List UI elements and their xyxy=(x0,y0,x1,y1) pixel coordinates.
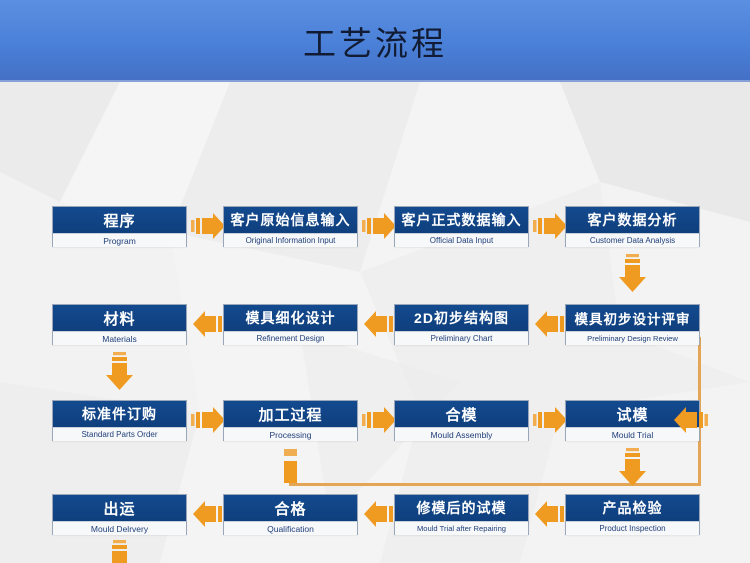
node-preliminary-design-review-en: Preliminary Design Review xyxy=(566,331,699,345)
node-standard-parts-order-cn: 标准件订购 xyxy=(53,401,186,427)
node-program[interactable]: 程序 Program xyxy=(52,206,187,247)
node-qualification[interactable]: 合格 Qualification xyxy=(223,494,358,535)
node-preliminary-chart[interactable]: 2D初步结构图 Preliminary Chart xyxy=(394,304,529,345)
node-standard-parts-order[interactable]: 标准件订购 Standard Parts Order xyxy=(52,400,187,441)
node-mould-assembly-en: Mould Assembly xyxy=(395,427,528,441)
arrow-down-r1-r2 xyxy=(619,254,646,294)
node-original-information-input-en: Original Information Input xyxy=(224,233,357,247)
node-processing-cn: 加工过程 xyxy=(224,401,357,427)
node-product-inspection[interactable]: 产品检验 Product Inspection xyxy=(565,494,700,535)
node-mould-assembly[interactable]: 合模 Mould Assembly xyxy=(394,400,529,441)
arrow-right-r3a xyxy=(191,407,227,433)
node-preliminary-design-review-cn: 模具初步设计评审 xyxy=(566,305,699,331)
node-materials-cn: 材料 xyxy=(53,305,186,331)
node-mould-assembly-cn: 合模 xyxy=(395,401,528,427)
node-preliminary-design-review[interactable]: 模具初步设计评审 Preliminary Design Review xyxy=(565,304,700,345)
feedback-loop-up-stub-upper xyxy=(284,449,297,456)
arrow-left-r2c xyxy=(533,311,569,337)
node-processing[interactable]: 加工过程 Processing xyxy=(223,400,358,441)
arrow-right-r3b xyxy=(362,407,398,433)
node-customer-data-analysis-en: Customer Data Analysis xyxy=(566,233,699,247)
node-refinement-design-cn: 模具细化设计 xyxy=(224,305,357,331)
node-mould-trial-after-repairing-en: Mould Trial after Repairing xyxy=(395,521,528,535)
node-official-data-input-cn: 客户正式数据输入 xyxy=(395,207,528,233)
node-materials-en: Materials xyxy=(53,331,186,345)
node-qualification-cn: 合格 xyxy=(224,495,357,521)
page-title: 工艺流程 xyxy=(0,0,750,82)
node-refinement-design-en: Refinement Design xyxy=(224,331,357,345)
node-mould-delivery[interactable]: 出运 Mould Delrvery xyxy=(52,494,187,535)
node-refinement-design[interactable]: 模具细化设计 Refinement Design xyxy=(223,304,358,345)
arrow-left-r2b xyxy=(362,311,398,337)
node-preliminary-chart-cn: 2D初步结构图 xyxy=(395,305,528,331)
page-header: 工艺流程 xyxy=(0,0,750,82)
node-customer-data-analysis[interactable]: 客户数据分析 Customer Data Analysis xyxy=(565,206,700,247)
arrow-down-r2-r3 xyxy=(106,352,133,392)
node-product-inspection-cn: 产品检验 xyxy=(566,495,699,521)
node-materials[interactable]: 材料 Materials xyxy=(52,304,187,345)
node-mould-trial-after-repairing-cn: 修模后的试模 xyxy=(395,495,528,521)
arrow-right-r1b xyxy=(362,213,398,239)
arrow-right-r1a xyxy=(191,213,227,239)
arrow-right-r3c xyxy=(533,407,569,433)
arrow-left-r4b xyxy=(362,501,398,527)
node-official-data-input-en: Official Data Input xyxy=(395,233,528,247)
node-customer-data-analysis-cn: 客户数据分析 xyxy=(566,207,699,233)
node-mould-trial-after-repairing[interactable]: 修模后的试模 Mould Trial after Repairing xyxy=(394,494,529,535)
arrow-left-r4a xyxy=(191,501,227,527)
arrow-down-r4-r5 xyxy=(106,540,133,563)
feedback-loop-up-stub-lower xyxy=(284,461,297,483)
node-program-en: Program xyxy=(53,233,186,247)
arrow-left-r4c xyxy=(533,501,569,527)
node-qualification-en: Qualification xyxy=(224,521,357,535)
flowchart-canvas: 程序 Program 客户原始信息输入 Original Information… xyxy=(0,82,750,563)
node-preliminary-chart-en: Preliminary Chart xyxy=(395,331,528,345)
node-product-inspection-en: Product Inspection xyxy=(566,521,699,535)
node-program-cn: 程序 xyxy=(53,207,186,233)
node-processing-en: Processing xyxy=(224,427,357,441)
node-official-data-input[interactable]: 客户正式数据输入 Official Data Input xyxy=(394,206,529,247)
node-original-information-input-cn: 客户原始信息输入 xyxy=(224,207,357,233)
arrow-down-r3-r4 xyxy=(619,448,646,488)
arrow-left-r2a xyxy=(191,311,227,337)
node-mould-delivery-en: Mould Delrvery xyxy=(53,521,186,535)
node-mould-delivery-cn: 出运 xyxy=(53,495,186,521)
arrow-right-r1c xyxy=(533,213,569,239)
node-original-information-input[interactable]: 客户原始信息输入 Original Information Input xyxy=(223,206,358,247)
arrow-left-feedback-head xyxy=(672,407,708,433)
node-standard-parts-order-en: Standard Parts Order xyxy=(53,427,186,441)
